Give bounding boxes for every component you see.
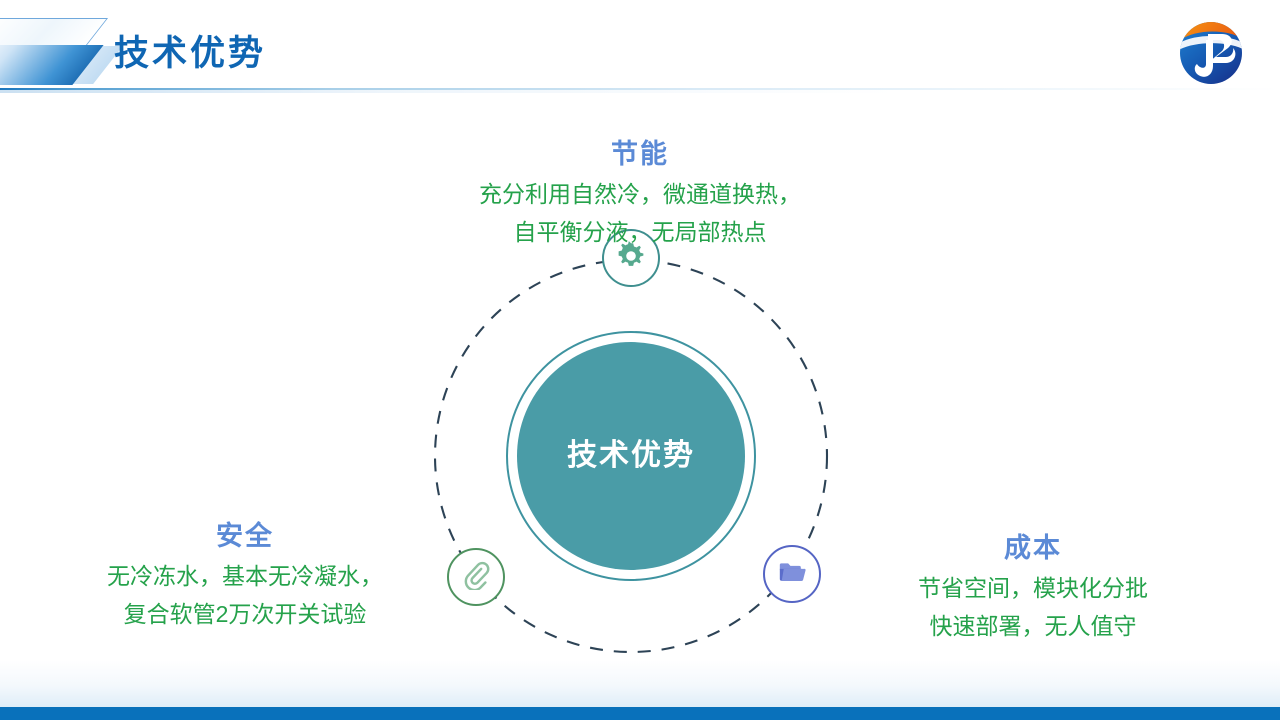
core-label: 技术优势	[567, 439, 695, 473]
feature-body-cost: 节省空间，模块化分批 快速部署，无人值守	[818, 569, 1248, 645]
page-title: 技术优势	[114, 32, 266, 76]
feature-block-cost: 成本 节省空间，模块化分批 快速部署，无人值守	[818, 530, 1248, 645]
slide-canvas: 技术优势	[0, 0, 1280, 720]
feature-heading-cost: 成本	[818, 530, 1248, 566]
center-diagram: 技术优势	[433, 258, 829, 654]
core-circle: 技术优势	[517, 342, 745, 570]
slide-header: 技术优势	[0, 0, 1280, 96]
footer-gradient	[0, 660, 1280, 707]
paperclip-icon	[461, 560, 491, 595]
feature-heading-safety: 安全	[30, 518, 460, 554]
feature-block-energy: 节能 充分利用自然冷，微通道换热， 自平衡分液，无局部热点	[360, 136, 920, 251]
feature-body-safety: 无冷冻水，基本无冷凝水， 复合软管2万次开关试验	[30, 557, 460, 633]
feature-heading-energy: 节能	[360, 136, 920, 172]
feature-body-energy: 充分利用自然冷，微通道换热， 自平衡分液，无局部热点	[360, 175, 920, 251]
header-divider-soft	[0, 90, 1280, 93]
footer-bar	[0, 707, 1280, 720]
folder-icon-badge[interactable]	[763, 545, 821, 603]
folder-icon	[777, 557, 807, 592]
feature-block-safety: 安全 无冷冻水，基本无冷凝水， 复合软管2万次开关试验	[30, 518, 460, 633]
company-logo	[1178, 20, 1244, 86]
